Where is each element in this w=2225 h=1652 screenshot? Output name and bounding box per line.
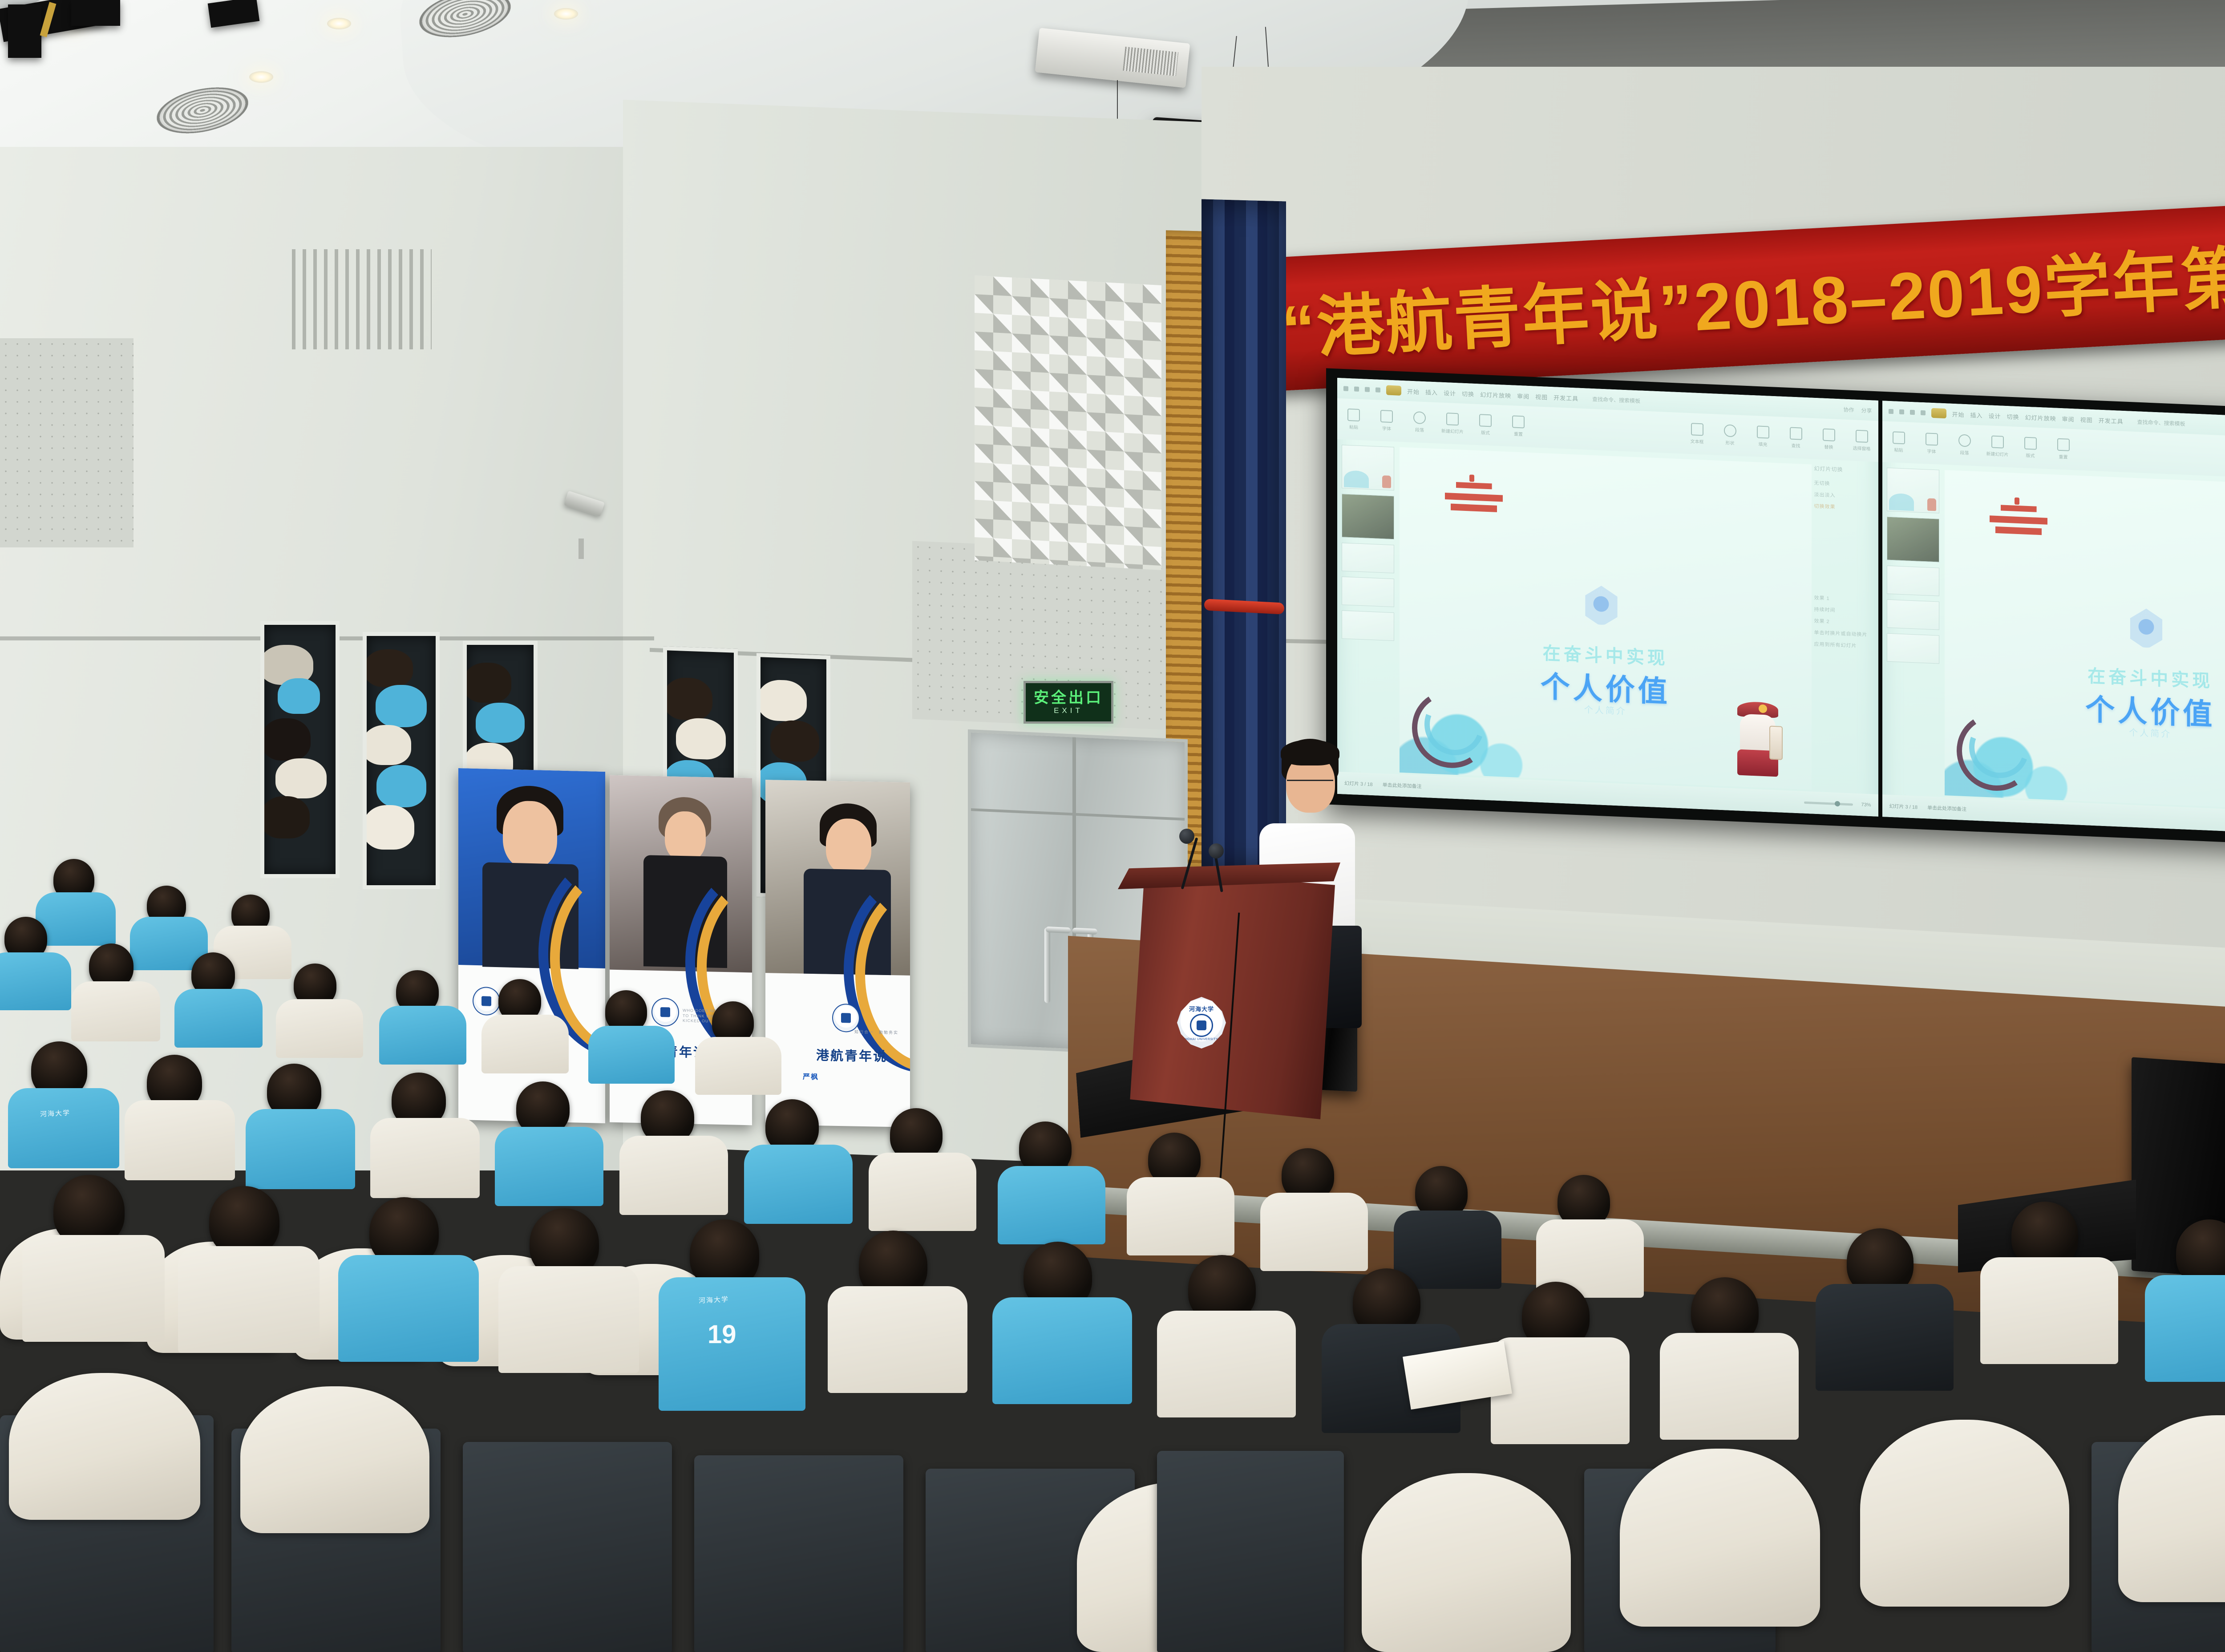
audience-shoulders [1157,1311,1296,1417]
projected-copy-left: 开始 插入 设计 切换 幻灯片放映 审阅 视图 开发工具 查找命令、搜索模板 协… [1337,378,1878,817]
projection-screen: 开始 插入 设计 切换 幻灯片放映 审阅 视图 开发工具 查找命令、搜索模板 协… [1337,378,2225,839]
shirt-number: 19 [708,1320,736,1349]
menu-item[interactable]: 开发工具 [1553,393,1578,402]
fill-icon [1757,425,1769,438]
audience-shoulders: 河海大学 [8,1088,119,1168]
zoom-slider-knob[interactable] [1835,801,1840,806]
ribbon-button-paste[interactable]: 粘贴 [1337,408,1370,431]
new-slide-icon [1446,413,1459,425]
wall-fin-decor [285,249,432,349]
lighting-truss [8,4,41,58]
menu-item[interactable]: 审阅 [2062,414,2075,423]
find-icon [1790,427,1802,440]
ribbon-button-fill[interactable]: 填充 [1747,425,1780,448]
slide-thumbnail[interactable] [1342,494,1394,539]
replace-icon [1823,429,1835,441]
reset-icon [2057,438,2070,451]
menu-item[interactable]: 切换 [2007,412,2019,421]
audience-shoulders [2145,1275,2225,1382]
textbox-icon [1691,423,1703,436]
wps-file-tab[interactable] [1386,385,1401,395]
crest-emblem [1190,1014,1213,1037]
titlebar-icon[interactable] [1365,387,1370,392]
audience-shoulders [588,1026,675,1084]
menu-item[interactable]: 切换 [1462,389,1474,398]
slide-thumbnail[interactable] [1342,610,1394,641]
titlebar-icon[interactable] [1910,409,1915,414]
acoustic-perforated-panel [0,338,133,547]
menu-item[interactable]: 视图 [1535,392,1548,401]
audience-shoulders [619,1136,728,1215]
auditorium-seat[interactable] [694,1455,903,1652]
ribbon-button-layout[interactable]: 版式 [2014,437,2047,459]
slide-thumbnail[interactable] [1342,576,1394,607]
ribbon-button-reset[interactable]: 重置 [2047,438,2080,461]
audience-shoulders [1127,1177,1234,1255]
titlebar-icon[interactable] [1375,387,1380,392]
audience-shoulders [998,1166,1105,1244]
slide-thumbnail[interactable] [1887,633,1939,664]
audience-shoulders [370,1118,480,1198]
slide-thumbnail[interactable] [1887,599,1939,630]
audience-shoulders [481,1015,569,1073]
seat-back-cover [1362,1473,1571,1652]
shirt-university-text: 河海大学 [698,1294,729,1305]
ribbon-button-font[interactable]: 字体 [1370,409,1403,432]
audience-shoulders [174,989,263,1048]
titlebar-icon[interactable] [1889,409,1893,413]
transition-pane[interactable]: 幻灯片切换 无切换 淡出淡入 切换效果 效果 1 持续时间 效果 2 单击时换片… [1813,465,1876,793]
audience-shoulders [744,1145,853,1224]
auditorium-scene: 安全出口 EXIT “港航青年说”2018–2019学年第1期 开始 插入 [0,0,2225,1652]
ribbon-button-new-slide[interactable]: 新建幻灯片 [1436,412,1469,435]
ribbon-button-paragraph[interactable]: 段落 [1403,411,1436,433]
slide-counter: 幻灯片 3 / 18 [1889,802,1918,811]
lectern [1126,870,1335,1119]
menu-item[interactable]: 开发工具 [2099,416,2124,425]
projector-vent [1123,47,1178,76]
audience-shoulders [125,1100,235,1180]
audience-shoulders [22,1235,165,1342]
slide-mascot-illustration [1734,701,1783,779]
paragraph-icon [1413,411,1426,424]
audience-shoulders-numbered: 河海大学 19 [659,1277,805,1411]
standee-portrait-face [826,818,871,875]
search-input[interactable]: 查找命令、搜索模板 [2137,418,2185,428]
slide-stamp-dot [1469,474,1474,482]
auditorium-seat[interactable] [1157,1451,1344,1652]
university-logo [473,987,500,1016]
shirt-university-text: 河海大学 [40,1108,70,1119]
menu-item[interactable]: 开始 [1407,387,1420,396]
crest-english-name: HOHAI UNIVERSITY [1185,1038,1218,1041]
standee-portrait-face [665,811,706,862]
layout-icon [1479,414,1492,427]
ribbon-button-textbox[interactable]: 文本框 [1681,422,1714,445]
menu-item[interactable]: 开始 [1952,409,1965,418]
viewing-window-slit [363,632,440,889]
audience-shoulders [1394,1211,1501,1289]
ribbon-button-find[interactable]: 查找 [1780,427,1812,449]
titlebar-icon[interactable] [1899,409,1904,414]
slide-thumbnail[interactable] [1887,566,1939,596]
ribbon-button-replace[interactable]: 替换 [1812,428,1845,451]
audience-shoulders [338,1255,479,1362]
viewing-window-slit [260,621,340,878]
menu-item[interactable]: 插入 [1970,410,1983,419]
menu-item[interactable]: 审阅 [1517,391,1529,400]
audience-shoulders [246,1109,355,1189]
zoom-slider[interactable] [1804,801,1853,806]
audience-shoulders [71,981,160,1041]
exit-sign-chinese: 安全出口 [1034,690,1103,705]
audience-shoulders [36,892,116,946]
titlebar-icon[interactable] [1921,410,1926,415]
seat-back-cover [1620,1449,1820,1627]
ribbon-button-shape[interactable]: 形状 [1714,424,1747,446]
ceiling-downlight [327,18,351,29]
titlebar-icon[interactable] [1354,386,1359,391]
menu-item[interactable]: 插入 [1425,388,1438,397]
ribbon-button-font[interactable]: 字体 [1915,432,1948,455]
collaborate-button[interactable]: 协作 [1843,405,1854,413]
titlebar-icon[interactable] [1343,386,1348,391]
door-handle-bar [1072,927,1097,935]
new-slide-icon [1991,435,2004,448]
font-icon [1926,433,1938,445]
standee-person-name: 严枫 [803,1071,819,1082]
slide-canvas[interactable]: 在奋斗中实现 个人价值 个人简介 [1400,447,1812,790]
audience-shoulders [178,1246,320,1353]
menu-item[interactable]: 视图 [2080,415,2093,424]
audience-shoulders [869,1153,976,1231]
clipboard-icon [1347,409,1360,421]
ceiling-downlight [554,8,578,20]
paragraph-icon [1958,434,1971,447]
wps-file-tab[interactable] [1931,408,1946,418]
pane-row[interactable]: 持续时间 [1814,606,1876,615]
slide-seal-ornament [1582,585,1620,628]
clipboard-icon [1893,431,1905,444]
select-pane-icon [1856,430,1868,443]
exit-sign-english: EXIT [1054,707,1083,714]
menu-item[interactable]: 幻灯片放映 [1480,390,1511,400]
cctv-mount-arm [578,539,584,559]
pane-heading: 幻灯片切换 [1814,465,1876,475]
menu-item[interactable]: 设计 [1989,411,2001,420]
acoustic-pyramid-panel [975,275,1161,570]
audience-shoulders [1660,1333,1799,1440]
slide-stamp-dot [2015,497,2019,504]
slide-thumbnail-panel[interactable] [1887,468,1939,795]
ribbon-button-layout[interactable]: 版式 [1469,413,1502,436]
exit-sign: 安全出口 EXIT [1023,681,1113,724]
zoom-level: 73% [1861,802,1871,808]
microphone-head [1179,829,1194,844]
layout-icon [2024,437,2037,450]
projected-copy-right: 开始 插入 设计 切换 幻灯片放映 审阅 视图 开发工具 查找命令、搜索模板 协… [1882,401,2225,839]
standee-tagline: 知行合一 勤勉务实 [854,1029,898,1036]
pane-row[interactable]: 无切换 [1814,479,1876,489]
ribbon-button-paste[interactable]: 粘贴 [1882,431,1915,453]
standee-portrait-face [503,800,557,869]
auditorium-seat[interactable] [463,1442,672,1652]
ribbon-button-reset[interactable]: 重置 [1502,415,1535,437]
pane-row[interactable]: 效果 2 [1814,617,1876,627]
menu-item[interactable]: 幻灯片放映 [2025,413,2056,422]
search-input[interactable]: 查找命令、搜索模板 [1592,395,1640,405]
slide-thumbnail[interactable] [1887,468,1939,514]
university-logo [832,1004,860,1032]
share-button[interactable]: 分享 [1861,406,1872,414]
standee-body-text [777,1088,902,1090]
slide-thumbnail-panel[interactable] [1342,445,1394,772]
pane-row[interactable]: 应用到所有幻灯片 [1814,640,1876,650]
door-transom [971,808,1185,821]
audience-shoulders [992,1297,1132,1404]
notes-placeholder[interactable]: 单击此处添加备注 [1927,804,1966,813]
notes-placeholder[interactable]: 单击此处添加备注 [1383,781,1422,790]
seat-back-cover [9,1373,200,1520]
university-logo [651,998,679,1027]
pane-row[interactable]: 单击时换片或自动换片 [1814,629,1876,639]
audience-shoulders [828,1286,967,1393]
shape-icon [1724,424,1736,437]
door-handle-bar [1046,927,1071,934]
pane-row[interactable]: 切换效果 [1814,502,1876,512]
presenter-hair-top [1281,740,1339,765]
microphone-head [1209,843,1224,858]
slide-red-stamp [1990,504,2047,535]
standee-title: 港航青年说 [816,1045,887,1065]
reset-icon [1512,415,1525,428]
menu-item[interactable]: 设计 [1444,388,1456,397]
seat-back-cover [1860,1420,2069,1607]
audience-shoulders [1816,1284,1954,1391]
audience-shoulders [495,1127,603,1206]
audience-shoulders [0,952,71,1010]
ceiling-downlight [249,71,273,83]
audience-shoulders [276,999,363,1058]
ribbon-button-paragraph[interactable]: 段落 [1948,433,1981,456]
crest-chinese-name: 河海大学 [1189,1004,1214,1013]
audience-shoulders [695,1037,781,1095]
slide-seal-ornament [2128,608,2165,651]
audience-shoulders [379,1006,466,1065]
font-icon [1380,410,1393,423]
ribbon-button-select-pane[interactable]: 选择窗格 [1845,429,1878,452]
slide-thumbnail[interactable] [1342,445,1394,490]
slide-canvas[interactable]: 在奋斗中实现 个人价值 个人简介 [1945,470,2225,813]
audience-shoulders [1980,1257,2118,1364]
seat-back-cover [240,1386,429,1533]
presenter-glasses [1287,780,1333,781]
slide-thumbnail[interactable] [1887,517,1939,563]
audience-shoulders [1260,1193,1368,1271]
pane-row[interactable]: 淡出淡入 [1814,491,1876,501]
slide-red-stamp [1445,482,1503,512]
audience-shoulders [498,1266,639,1373]
ribbon-button-new-slide[interactable]: 新建幻灯片 [1981,435,2014,458]
lighting-truss [71,0,120,26]
slide-thumbnail[interactable] [1342,543,1394,573]
rollup-standee: 知行合一 勤勉务实 港航青年说 严枫 [765,780,910,1127]
door-handle[interactable] [1044,927,1050,1004]
